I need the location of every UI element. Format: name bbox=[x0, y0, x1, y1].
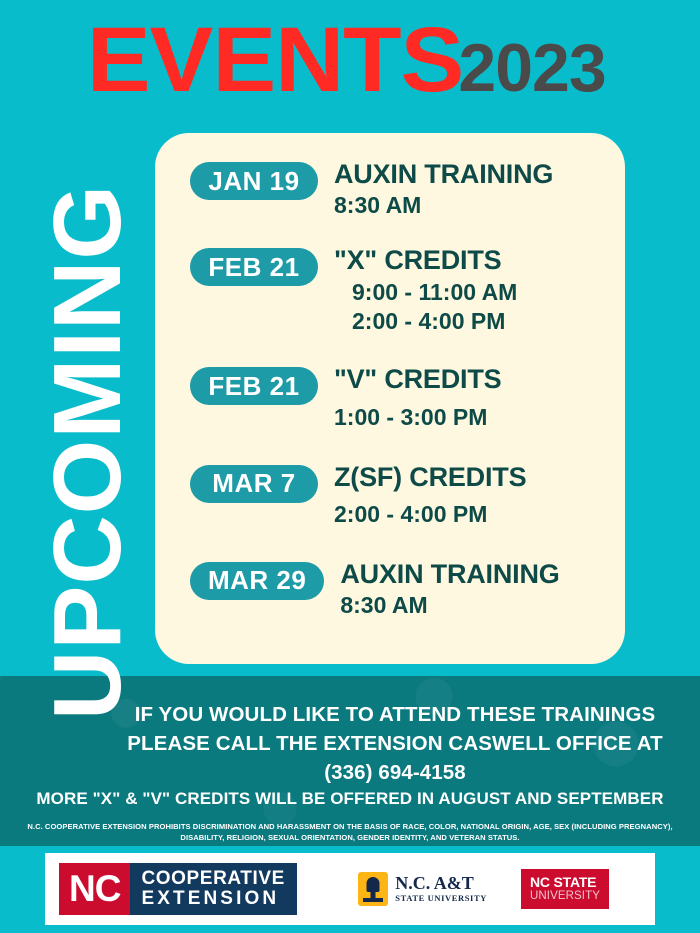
event-time: 9:00 - 11:00 AM bbox=[334, 278, 517, 308]
event-times: 2:00 - 4:00 PM bbox=[334, 500, 526, 530]
nc-at-name: N.C. A&T bbox=[395, 874, 487, 892]
nc-state-university-text: UNIVERSITY bbox=[530, 890, 600, 902]
event-date-pill: MAR 7 bbox=[190, 465, 318, 503]
nc-state-university-logo: NC STATE UNIVERSITY bbox=[521, 869, 609, 909]
nc-logo-mark: NC bbox=[59, 863, 130, 915]
event-details: "X" CREDITS 9:00 - 11:00 AM 2:00 - 4:00 … bbox=[334, 246, 517, 337]
event-time: 2:00 - 4:00 PM bbox=[334, 307, 517, 337]
partner-logos: N.C. A&T STATE UNIVERSITY NC STATE UNIVE… bbox=[358, 869, 655, 909]
event-row: FEB 21 "V" CREDITS 1:00 - 3:00 PM bbox=[155, 365, 625, 432]
bell-base-shape bbox=[363, 898, 383, 902]
contact-line-2: PLEASE CALL THE EXTENSION CASWELL OFFICE… bbox=[105, 729, 685, 758]
event-row: FEB 21 "X" CREDITS 9:00 - 11:00 AM 2:00 … bbox=[155, 246, 625, 337]
event-time: 2:00 - 4:00 PM bbox=[334, 500, 526, 530]
event-title: Z(SF) CREDITS bbox=[334, 463, 526, 491]
logo-bar: NC COOPERATIVE EXTENSION N.C. A&T STATE … bbox=[45, 853, 655, 925]
nc-at-state-university-logo: N.C. A&T STATE UNIVERSITY bbox=[358, 872, 487, 906]
title-events: EVENTS bbox=[87, 14, 464, 106]
event-flyer: EVENTS 2023 UPCOMING JAN 19 AUXIN TRAINI… bbox=[0, 0, 700, 933]
event-title: AUXIN TRAINING bbox=[334, 160, 553, 188]
nc-cooperative-extension-logo: NC COOPERATIVE EXTENSION bbox=[59, 863, 297, 915]
cooperative-text: COOPERATIVE bbox=[141, 869, 285, 889]
event-times: 8:30 AM bbox=[334, 191, 553, 221]
event-details: "V" CREDITS 1:00 - 3:00 PM bbox=[334, 365, 501, 432]
nc-state-text: NC STATE bbox=[530, 875, 600, 890]
event-times: 1:00 - 3:00 PM bbox=[334, 403, 501, 433]
event-row: MAR 29 AUXIN TRAINING 8:30 AM bbox=[155, 560, 625, 621]
note-text: MORE "X" & "V" CREDITS WILL BE OFFERED I… bbox=[0, 789, 700, 809]
event-title: "V" CREDITS bbox=[334, 365, 501, 393]
event-date-pill: MAR 29 bbox=[190, 562, 324, 600]
event-details: Z(SF) CREDITS 2:00 - 4:00 PM bbox=[334, 463, 526, 530]
nc-at-subtitle: STATE UNIVERSITY bbox=[395, 892, 487, 905]
bell-tower-icon bbox=[358, 872, 388, 906]
event-date-pill: FEB 21 bbox=[190, 367, 318, 405]
event-date-pill: FEB 21 bbox=[190, 248, 318, 286]
event-time: 1:00 - 3:00 PM bbox=[334, 403, 501, 433]
event-details: AUXIN TRAINING 8:30 AM bbox=[334, 160, 553, 221]
cooperative-extension-wordmark: COOPERATIVE EXTENSION bbox=[130, 863, 297, 915]
event-details: AUXIN TRAINING 8:30 AM bbox=[340, 560, 559, 621]
event-row: JAN 19 AUXIN TRAINING 8:30 AM bbox=[155, 160, 625, 221]
event-times: 9:00 - 11:00 AM 2:00 - 4:00 PM bbox=[334, 278, 517, 338]
nc-at-wordmark: N.C. A&T STATE UNIVERSITY bbox=[395, 874, 487, 905]
contact-block: IF YOU WOULD LIKE TO ATTEND THESE TRAINI… bbox=[105, 700, 685, 787]
additional-credits-note: MORE "X" & "V" CREDITS WILL BE OFFERED I… bbox=[0, 789, 700, 809]
extension-text: EXTENSION bbox=[141, 889, 285, 909]
events-card: JAN 19 AUXIN TRAINING 8:30 AM FEB 21 "X"… bbox=[155, 133, 625, 664]
event-title: AUXIN TRAINING bbox=[340, 560, 559, 588]
event-time: 8:30 AM bbox=[334, 191, 553, 221]
contact-line-1: IF YOU WOULD LIKE TO ATTEND THESE TRAINI… bbox=[105, 700, 685, 729]
nondiscrimination-disclaimer: N.C. COOPERATIVE EXTENSION PROHIBITS DIS… bbox=[8, 821, 692, 843]
event-row: MAR 7 Z(SF) CREDITS 2:00 - 4:00 PM bbox=[155, 463, 625, 530]
event-date-pill: JAN 19 bbox=[190, 162, 318, 200]
page-title: EVENTS 2023 bbox=[0, 14, 700, 124]
event-title: "X" CREDITS bbox=[334, 246, 517, 274]
contact-phone[interactable]: (336) 694-4158 bbox=[105, 758, 685, 787]
event-time: 8:30 AM bbox=[340, 591, 559, 621]
event-times: 8:30 AM bbox=[340, 591, 559, 621]
title-year: 2023 bbox=[458, 34, 605, 102]
